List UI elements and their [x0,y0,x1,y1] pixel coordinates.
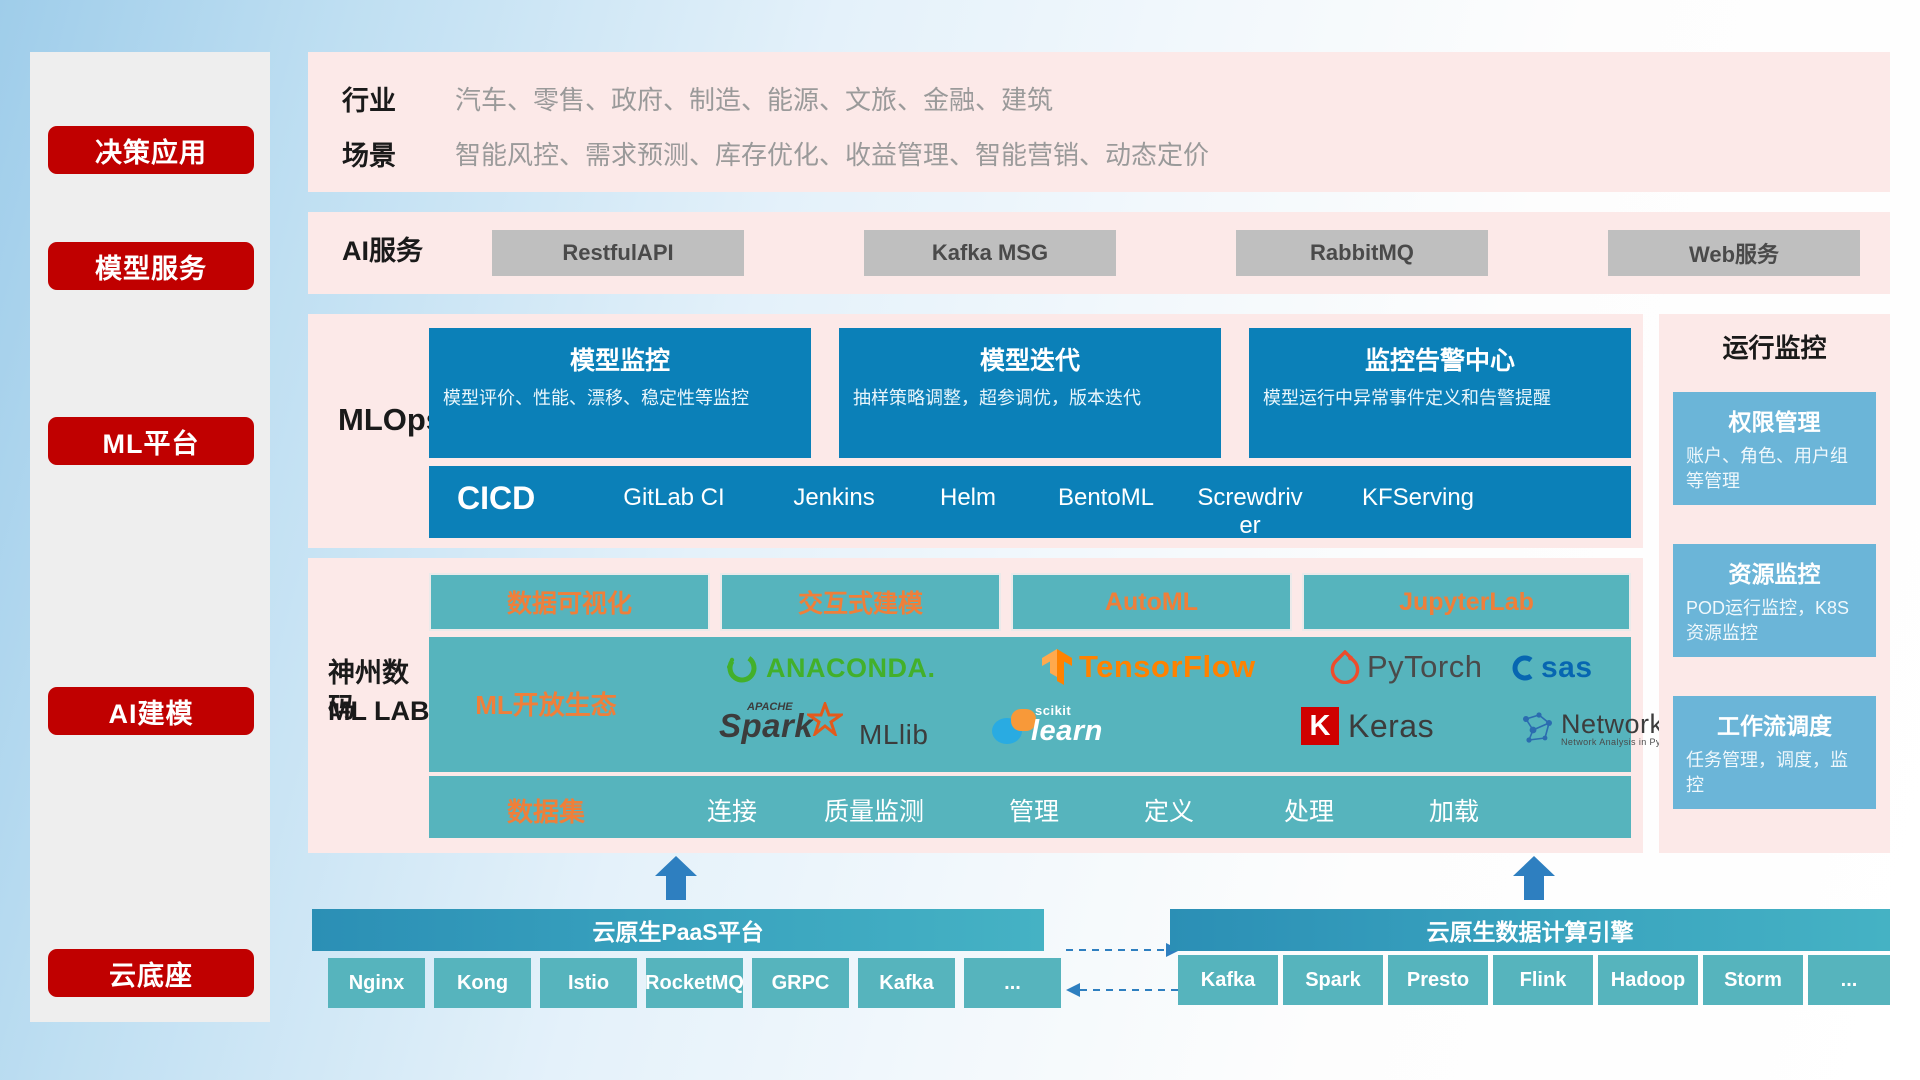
card-desc: 模型评价、性能、漂移、稳定性等监控 [429,377,811,411]
rail-badge-cloud-base[interactable]: 云底座 [48,949,254,997]
rail-badge-model-service[interactable]: 模型服务 [48,242,254,290]
anaconda-icon [725,651,759,685]
paas-chip-rocketmq[interactable]: RocketMQ [646,958,743,1008]
cicd-item-screwdriver[interactable]: Screwdriver [1191,484,1309,538]
rail-badge-ml-platform[interactable]: ML平台 [48,417,254,465]
sas-logo: sas [1509,651,1593,685]
scikit-learn-logo: scikit learn [989,705,1037,749]
monitoring-card-resource[interactable]: 资源监控 POD运行监控，K8S资源监控 [1673,544,1876,657]
pytorch-wordmark: PyTorch [1367,649,1482,685]
sas-icon [1509,653,1539,683]
dataset-label: 数据集 [451,792,641,829]
monitoring-card-workflow[interactable]: 工作流调度 任务管理，调度，监控 [1673,696,1876,809]
cicd-item-helm[interactable]: Helm [909,484,1027,512]
paas-chip-grpc[interactable]: GRPC [752,958,849,1008]
pytorch-icon [1329,650,1361,684]
dataset-item-quality[interactable]: 质量监测 [799,792,949,828]
card-desc: 模型运行中异常事件定义和告警提醒 [1249,377,1631,411]
modeling-tab-data-visualization[interactable]: 数据可视化 [429,573,710,631]
monitoring-title: 运行监控 [1659,328,1890,365]
ml-ecosystem-box: ML开放生态 ANACONDA. TensorFlow [429,637,1631,772]
engine-chip-hadoop[interactable]: Hadoop [1598,955,1698,1005]
modeling-tab-jupyterlab[interactable]: JupyterLab [1302,573,1631,631]
dataset-item-load[interactable]: 加载 [1379,792,1529,828]
ai-service-panel: AI服务 RestfulAPI Kafka MSG RabbitMQ Web服务 [308,212,1890,294]
engine-chip-spark[interactable]: Spark [1283,955,1383,1005]
card-desc: POD运行监控，K8S资源监控 [1673,589,1876,646]
card-title: 资源监控 [1673,544,1876,589]
tensorflow-wordmark: TensorFlow [1079,649,1256,685]
sas-wordmark: sas [1541,651,1593,685]
networkx-icon [1519,710,1555,746]
industry-key: 行业 [342,79,396,118]
engine-chip-more[interactable]: ... [1808,955,1890,1005]
service-chip-web-service[interactable]: Web服务 [1608,230,1860,276]
scikit-learn-wordmark: learn [1031,715,1103,748]
cicd-item-kfserving[interactable]: KFServing [1359,484,1477,512]
bidirectional-dashed-link-icon [1062,934,1184,1004]
cicd-label: CICD [457,480,535,517]
scenario-key: 场景 [342,134,396,173]
paas-chip-more[interactable]: ... [964,958,1061,1008]
service-chip-kafka-msg[interactable]: Kafka MSG [864,230,1116,276]
rail-badge-ai-modeling[interactable]: AI建模 [48,687,254,735]
cicd-item-bentoml[interactable]: BentoML [1047,484,1165,512]
mlops-panel: MLOps 模型监控 模型评价、性能、漂移、稳定性等监控 模型迭代 抽样策略调整… [308,314,1643,548]
data-engine-up-arrow-icon [1513,856,1555,900]
monitoring-card-permission[interactable]: 权限管理 账户、角色、用户组等管理 [1673,392,1876,505]
engine-chip-kafka[interactable]: Kafka [1178,955,1278,1005]
paas-chip-nginx[interactable]: Nginx [328,958,425,1008]
tensorflow-logo: TensorFlow [1041,648,1256,686]
spark-mllib-label: MLlib [859,719,928,751]
anaconda-logo: ANACONDA. [725,651,936,685]
modeling-tab-interactive-modeling[interactable]: 交互式建模 [720,573,1001,631]
dataset-item-manage[interactable]: 管理 [959,792,1109,828]
dataset-box: 数据集 连接 质量监测 管理 定义 处理 加载 [429,776,1631,838]
scenario-value: 智能风控、需求预测、库存优化、收益管理、智能营销、动态定价 [455,135,1209,172]
paas-chip-kong[interactable]: Kong [434,958,531,1008]
service-chip-rabbitmq[interactable]: RabbitMQ [1236,230,1488,276]
card-title: 监控告警中心 [1249,328,1631,377]
cloud-native-paas-bar: 云原生PaaS平台 [312,909,1044,951]
keras-logo: K Keras [1301,707,1434,745]
cicd-bar: CICD GitLab CI Jenkins Helm BentoML Scre… [429,466,1631,538]
scikit-learn-icon [989,705,1037,749]
card-title: 工作流调度 [1673,696,1876,741]
rail-badge-decision[interactable]: 决策应用 [48,126,254,174]
cloud-native-data-engine-bar: 云原生数据计算引擎 [1170,909,1890,951]
left-rail: 决策应用 模型服务 ML平台 AI建模 云底座 [30,52,270,1022]
dataset-item-define[interactable]: 定义 [1094,792,1244,828]
keras-mark-icon: K [1301,707,1339,745]
pytorch-logo: PyTorch [1329,649,1482,685]
industry-value: 汽车、零售、政府、制造、能源、文旅、金融、建筑 [455,80,1053,117]
paas-up-arrow-icon [655,856,697,900]
cicd-item-jenkins[interactable]: Jenkins [775,484,893,512]
paas-chip-istio[interactable]: Istio [540,958,637,1008]
mlops-label: MLOps [338,400,443,440]
anaconda-wordmark: ANACONDA. [766,653,936,684]
engine-chip-flink[interactable]: Flink [1493,955,1593,1005]
card-title: 模型监控 [429,328,811,377]
card-title: 模型迭代 [839,328,1221,377]
ai-service-label: AI服务 [342,234,423,269]
card-title: 权限管理 [1673,392,1876,437]
modeling-tab-automl[interactable]: AutoML [1011,573,1292,631]
keras-wordmark: Keras [1348,708,1434,745]
card-desc: 抽样策略调整，超参调优，版本迭代 [839,377,1221,411]
networkx-logo: NetworkX Network Analysis in Python [1519,709,1682,747]
card-desc: 任务管理，调度，监控 [1673,741,1876,798]
card-desc: 账户、角色、用户组等管理 [1673,437,1876,494]
application-layer-panel: 行业 汽车、零售、政府、制造、能源、文旅、金融、建筑 场景 智能风控、需求预测、… [308,52,1890,192]
spark-star-icon [807,702,843,736]
mlops-card-alert-center[interactable]: 监控告警中心 模型运行中异常事件定义和告警提醒 [1249,328,1631,458]
cicd-item-gitlab-ci[interactable]: GitLab CI [615,484,733,512]
mlops-card-model-iteration[interactable]: 模型迭代 抽样策略调整，超参调优，版本迭代 [839,328,1221,458]
tensorflow-icon [1041,648,1073,686]
ml-ecosystem-label: ML开放生态 [451,685,641,722]
mlops-card-model-monitoring[interactable]: 模型监控 模型评价、性能、漂移、稳定性等监控 [429,328,811,458]
dataset-item-process[interactable]: 处理 [1234,792,1384,828]
paas-chip-kafka[interactable]: Kafka [858,958,955,1008]
architecture-diagram: 决策应用 模型服务 ML平台 AI建模 云底座 行业 汽车、零售、政府、制造、能… [0,0,1920,1080]
dataset-item-connect[interactable]: 连接 [657,792,807,828]
engine-chip-storm[interactable]: Storm [1703,955,1803,1005]
keras-mark-letter: K [1310,710,1331,743]
ai-modeling-panel: 神州数码 ML LAB 数据可视化 交互式建模 AutoML JupyterLa… [308,558,1643,853]
monitoring-panel: 运行监控 权限管理 账户、角色、用户组等管理 资源监控 POD运行监控，K8S资… [1659,314,1890,853]
service-chip-restfulapi[interactable]: RestfulAPI [492,230,744,276]
spark-apache-tag: APACHE [747,701,793,713]
spark-logo: APACHE Spark [719,707,843,745]
engine-chip-presto[interactable]: Presto [1388,955,1488,1005]
